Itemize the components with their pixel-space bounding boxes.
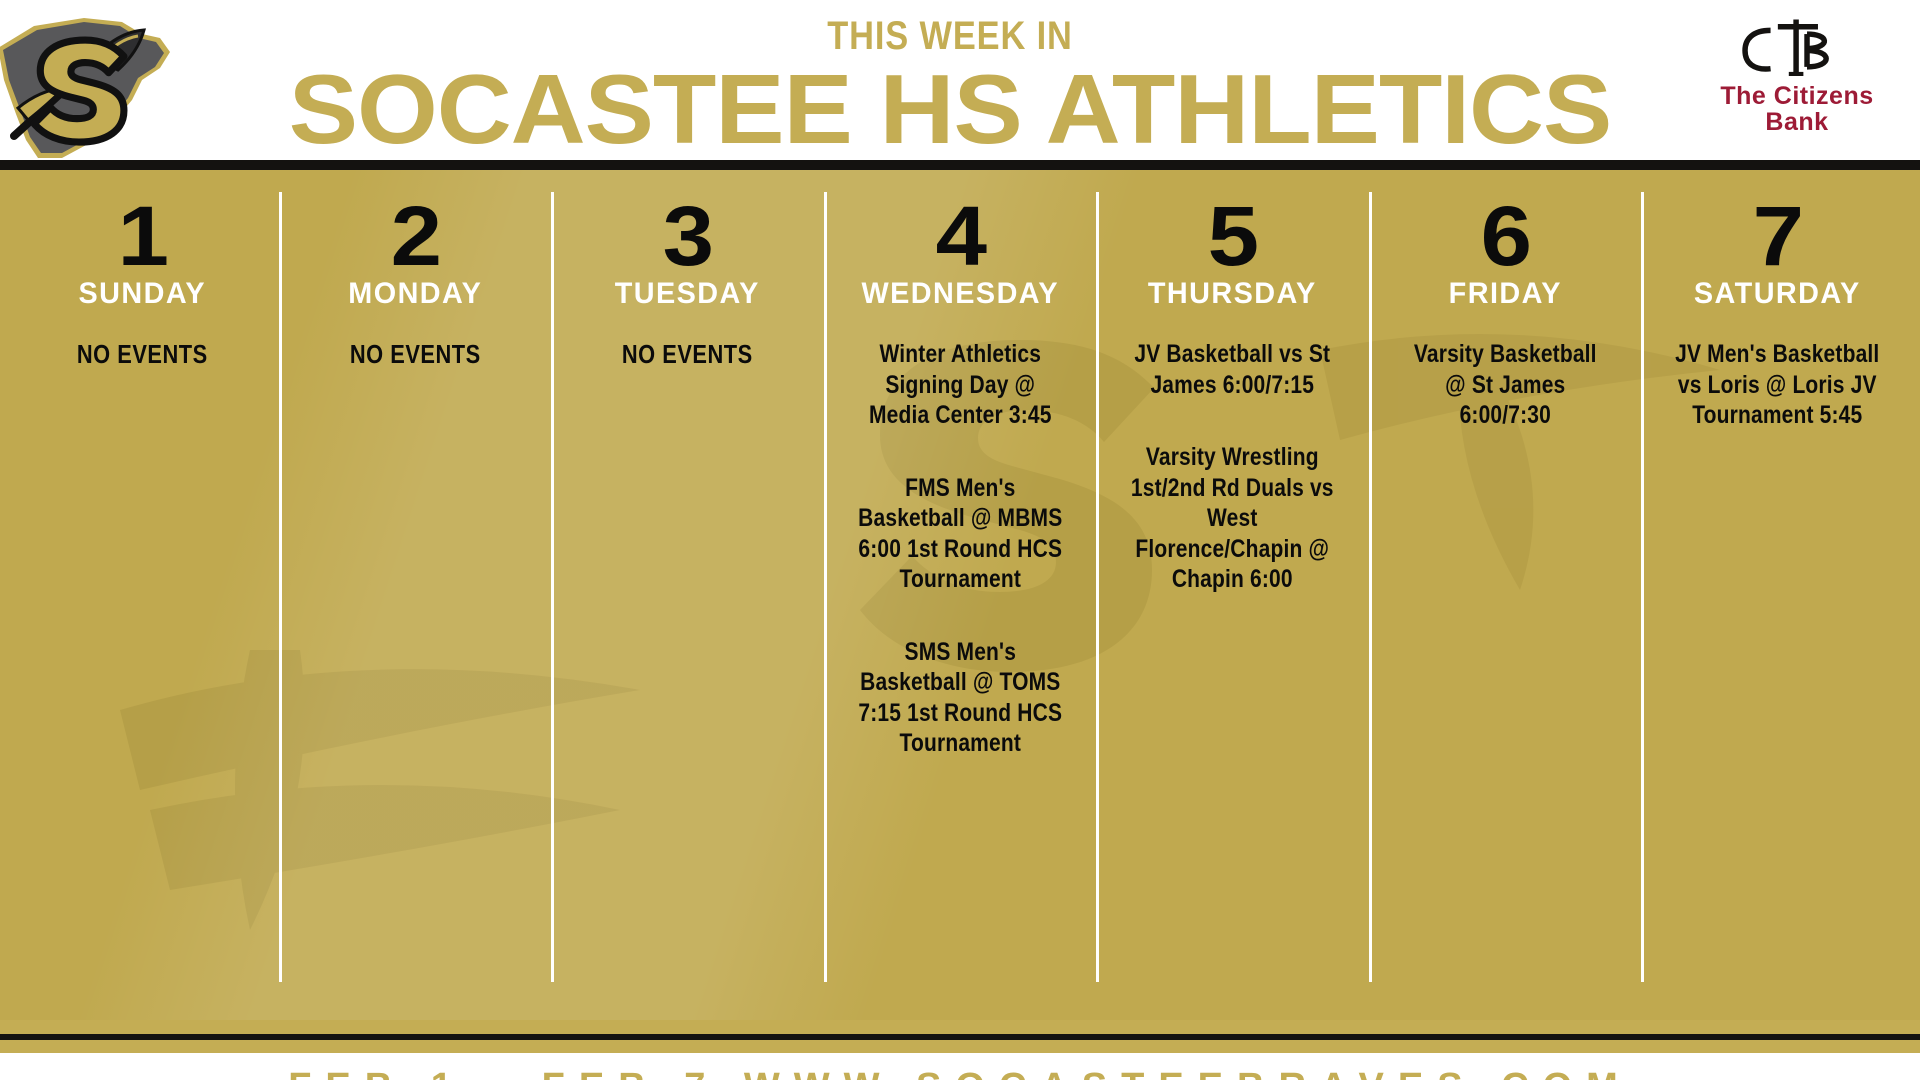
event-item: Varsity Basketball @ St James 6:00/7:30: [1402, 339, 1607, 431]
day-name: MONDAY: [297, 279, 532, 309]
day-column-monday: 2 MONDAY NO EVENTS: [279, 170, 552, 1020]
day-name: SUNDAY: [25, 279, 260, 309]
header-kicker: THIS WEEK IN: [331, 16, 1569, 56]
event-item: Varsity Wrestling 1st/2nd Rd Duals vs We…: [1130, 442, 1335, 595]
day-events: NO EVENTS: [20, 339, 265, 371]
day-column-thursday: 5 THURSDAY JV Basketball vs St James 6:0…: [1096, 170, 1369, 1020]
footer-date-and-site: FEB 1 - FEB 7 WWW.SOCASTEEBRAVES.COM: [288, 1066, 1632, 1080]
day-column-friday: 6 FRIDAY Varsity Basketball @ St James 6…: [1369, 170, 1642, 1020]
event-item: JV Men's Basketball vs Loris @ Loris JV …: [1675, 339, 1880, 431]
day-events: Varsity Basketball @ St James 6:00/7:30: [1383, 339, 1628, 431]
sponsor-name: The Citizens Bank: [1682, 83, 1912, 136]
day-number: 2: [280, 198, 549, 275]
sponsor-name-line2: Bank: [1682, 109, 1912, 135]
page-header: THIS WEEK IN SOCASTEE HS ATHLETICS The C…: [0, 0, 1920, 160]
sponsor-logo-citizens-bank: The Citizens Bank: [1682, 14, 1912, 136]
day-events: JV Men's Basketball vs Loris @ Loris JV …: [1655, 339, 1900, 431]
event-item: FMS Men's Basketball @ MBMS 6:00 1st Rou…: [857, 473, 1062, 595]
day-events: NO EVENTS: [565, 339, 810, 371]
event-item: NO EVENTS: [40, 339, 245, 371]
header-title-block: THIS WEEK IN SOCASTEE HS ATHLETICS: [230, 16, 1670, 161]
day-name: SATURDAY: [1660, 279, 1895, 309]
day-name: FRIDAY: [1388, 279, 1623, 309]
event-item: Winter Athletics Signing Day @ Media Cen…: [857, 339, 1062, 431]
day-name: WEDNESDAY: [843, 279, 1078, 309]
tcb-monogram-icon: [1722, 14, 1872, 76]
day-number: 1: [8, 198, 277, 275]
day-name: TUESDAY: [570, 279, 805, 309]
day-number: 5: [1098, 198, 1367, 275]
footer-gold-rule-bottom: [0, 1040, 1920, 1053]
weekly-calendar-board: 1 SUNDAY NO EVENTS 2 MONDAY NO EVENTS 3 …: [0, 170, 1920, 1020]
day-events: Winter Athletics Signing Day @ Media Cen…: [838, 339, 1083, 759]
event-item: SMS Men's Basketball @ TOMS 7:15 1st Rou…: [857, 637, 1062, 759]
day-column-saturday: 7 SATURDAY JV Men's Basketball vs Loris …: [1641, 170, 1914, 1020]
footer-gold-rule-top: [0, 1020, 1920, 1034]
day-column-sunday: 1 SUNDAY NO EVENTS: [6, 170, 279, 1020]
event-item: JV Basketball vs St James 6:00/7:15: [1130, 339, 1335, 400]
day-events: JV Basketball vs St James 6:00/7:15 Vars…: [1110, 339, 1355, 595]
day-number: 3: [553, 198, 822, 275]
day-name: THURSDAY: [1115, 279, 1350, 309]
event-item: NO EVENTS: [312, 339, 517, 371]
day-column-wednesday: 4 WEDNESDAY Winter Athletics Signing Day…: [824, 170, 1097, 1020]
day-number: 4: [825, 198, 1094, 275]
socastee-braves-logo: [0, 8, 202, 168]
day-column-tuesday: 3 TUESDAY NO EVENTS: [551, 170, 824, 1020]
day-events: NO EVENTS: [293, 339, 538, 371]
days-grid: 1 SUNDAY NO EVENTS 2 MONDAY NO EVENTS 3 …: [0, 170, 1920, 1020]
day-number: 7: [1643, 198, 1912, 275]
sponsor-name-line1: The Citizens: [1682, 83, 1912, 109]
event-item: NO EVENTS: [585, 339, 790, 371]
page-footer: FEB 1 - FEB 7 WWW.SOCASTEEBRAVES.COM: [0, 1053, 1920, 1080]
page-title: SOCASTEE HS ATHLETICS: [187, 58, 1713, 161]
day-number: 6: [1371, 198, 1640, 275]
